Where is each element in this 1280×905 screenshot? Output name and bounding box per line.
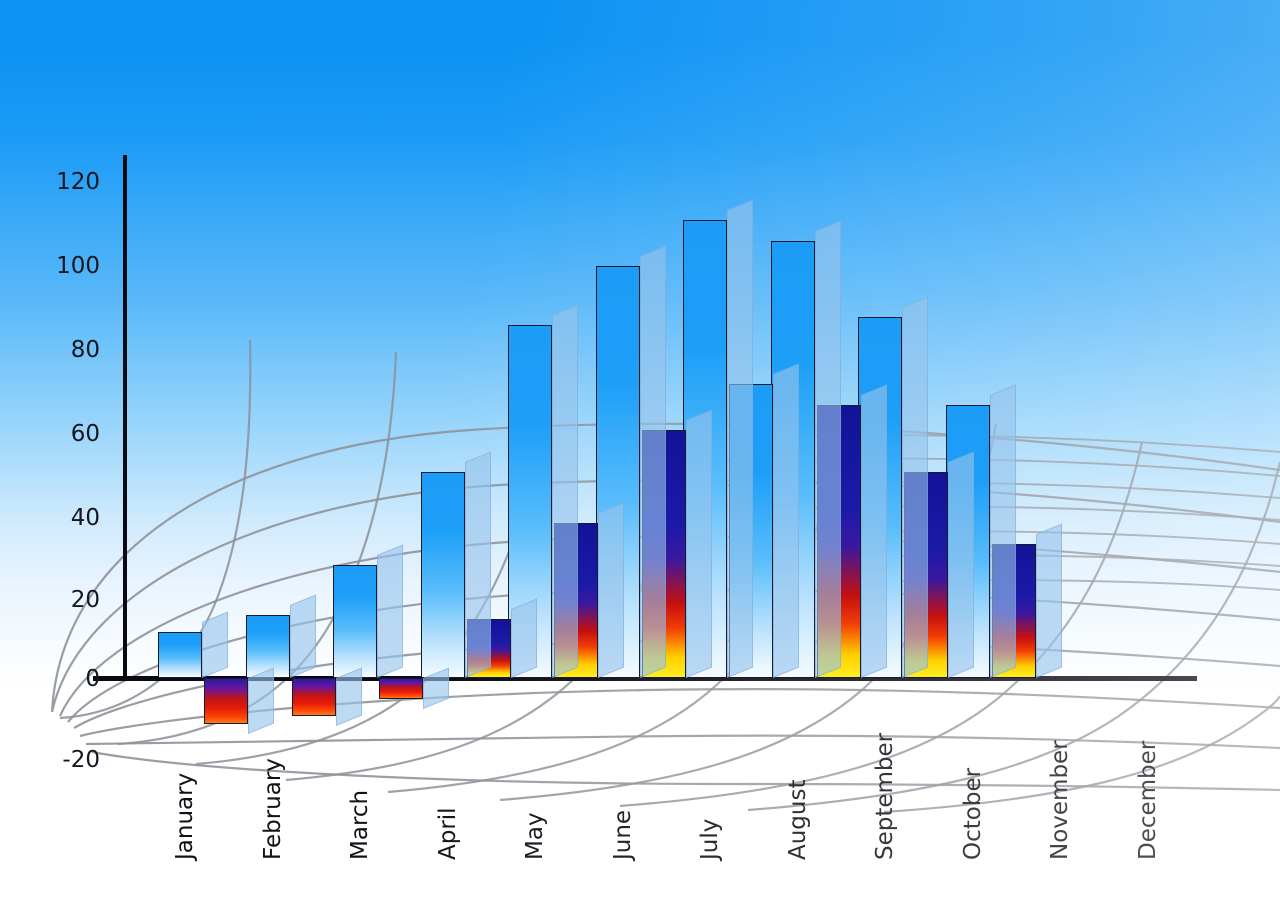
bar-shadow — [377, 544, 403, 678]
bar-face — [379, 678, 423, 699]
bar-shadow — [248, 667, 274, 734]
bar-face — [333, 565, 377, 678]
bar-february-series2-negative — [292, 678, 336, 716]
bar-shadow — [902, 296, 928, 678]
x-tick-label-june: June — [610, 810, 636, 860]
bar-march-series2-negative — [379, 678, 423, 699]
bar-shadow — [640, 246, 666, 678]
bar-shadow — [948, 452, 974, 678]
bar-shadow — [861, 384, 887, 678]
x-tick-label-december: December — [1135, 741, 1161, 860]
bar-face — [292, 678, 336, 716]
x-tick-label-february: February — [260, 758, 286, 860]
x-tick-label-january: January — [172, 773, 198, 860]
bar-shadow — [686, 410, 712, 678]
x-tick-label-september: September — [872, 733, 898, 860]
bar-shadow — [990, 384, 1016, 678]
bar-february-series1 — [246, 615, 290, 678]
x-tick-label-july: July — [697, 819, 723, 860]
bar-shadow — [773, 363, 799, 678]
bar-face — [158, 632, 202, 678]
x-tick-label-march: March — [347, 790, 373, 860]
bar-shadow — [511, 599, 537, 678]
bar-shadow — [336, 667, 362, 725]
bar-april-series1 — [421, 472, 465, 678]
bar-shadow — [598, 502, 624, 678]
x-tick-label-august: August — [785, 780, 811, 861]
bar-shadow — [815, 221, 841, 678]
chart-canvas: 120 100 80 60 40 20 0 -20 JanuaryFebruar… — [0, 0, 1280, 905]
x-tick-label-october: October — [960, 768, 986, 860]
bar-face — [246, 615, 290, 678]
bar-shadow — [290, 594, 316, 678]
x-tick-label-november: November — [1047, 740, 1073, 860]
bar-january-series1 — [158, 632, 202, 678]
bar-shadow — [465, 452, 491, 678]
bar-march-series1 — [333, 565, 377, 678]
bar-shadow — [1036, 523, 1062, 678]
bar-january-series2-negative — [204, 678, 248, 724]
x-tick-label-may: May — [522, 812, 548, 860]
bar-shadow — [552, 305, 578, 678]
x-tick-label-april: April — [435, 807, 461, 860]
bar-face — [421, 472, 465, 678]
bar-shadow — [202, 611, 228, 678]
bar-face — [204, 678, 248, 724]
bar-shadow — [727, 200, 753, 678]
